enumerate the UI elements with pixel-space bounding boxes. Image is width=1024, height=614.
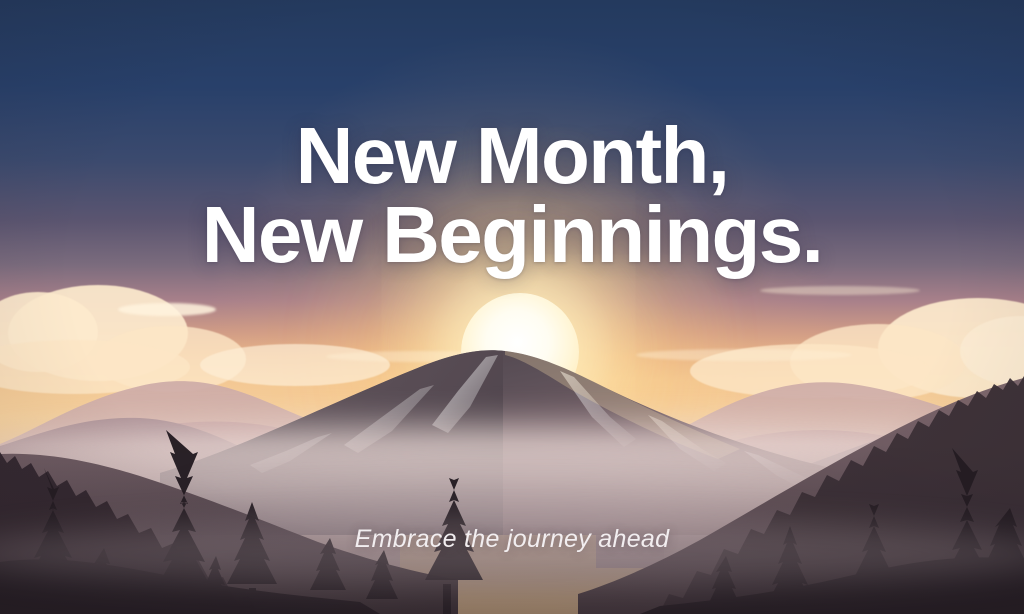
cloud-lenticular [118, 303, 216, 316]
headline-line-2: New Beginnings. [0, 195, 1024, 274]
headline-line-1: New Month, [296, 111, 729, 200]
page-title: New Month, New Beginnings. [0, 116, 1024, 274]
cloud-high-streak [760, 286, 920, 295]
page-subtitle: Embrace the journey ahead [0, 525, 1024, 554]
poster-canvas: New Month, New Beginnings. Embrace the j… [0, 0, 1024, 614]
